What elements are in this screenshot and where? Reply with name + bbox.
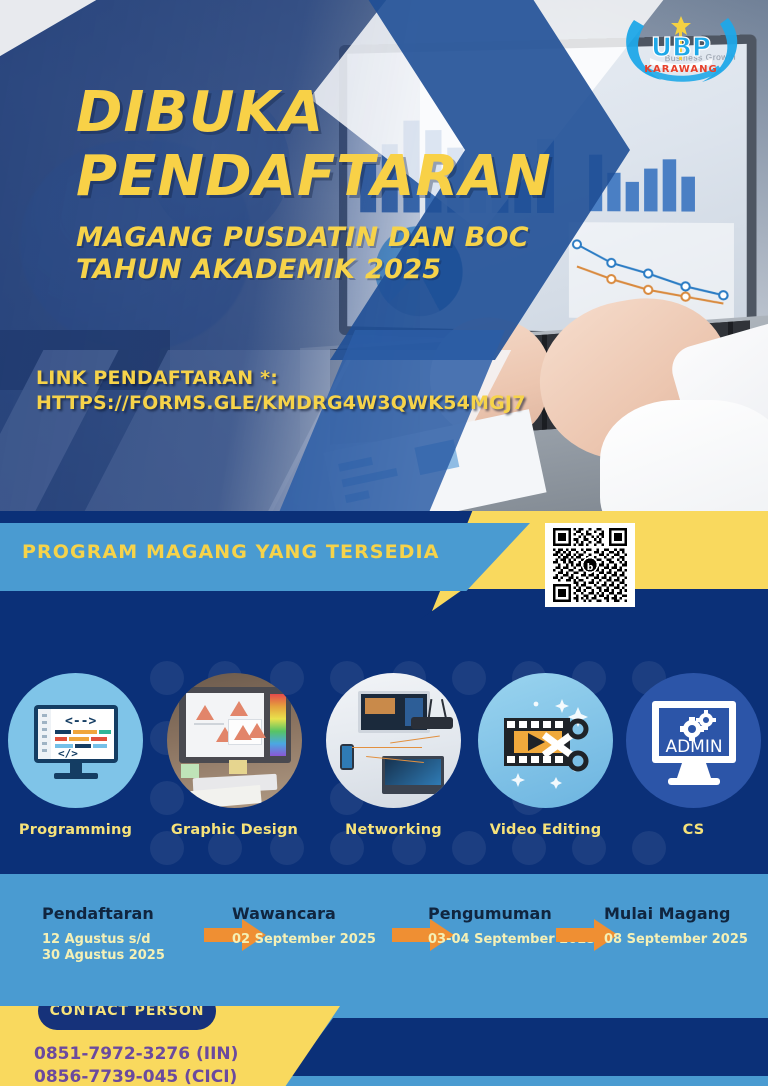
program-item[interactable]: <--> </> Programm <box>8 673 143 838</box>
timeline-date: 12 Agustus s/d 30 Agustus 2025 <box>42 932 165 965</box>
timeline-title: Mulai Magang <box>604 904 748 923</box>
svg-text:<-->: <--> <box>65 714 96 729</box>
program-item[interactable]: Networking <box>326 673 461 838</box>
code-monitor-icon: <--> </> <box>8 673 143 808</box>
program-item[interactable]: ADMIN CS <box>626 673 761 838</box>
link-label: LINK PENDAFTARAN *: <box>36 366 526 391</box>
program-item[interactable]: Video Editing <box>478 673 613 838</box>
registration-link-url[interactable]: HTTPS://FORMS.GLE/KMDRG4W3QWK54MGJ7 <box>36 391 526 416</box>
logo-text: UBP <box>651 33 711 63</box>
headline-line-2: PENDAFTARAN <box>76 150 696 204</box>
program-item[interactable]: Graphic Design <box>167 673 302 838</box>
timeline-section: Pendaftaran 12 Agustus s/d 30 Agustus 20… <box>0 874 768 1006</box>
subtitle-line-2: TAHUN AKADEMIK 2025 <box>76 254 696 287</box>
timeline-title: Pendaftaran <box>42 904 165 923</box>
timeline-step: Pendaftaran 12 Agustus s/d 30 Agustus 20… <box>42 904 165 965</box>
programs-section: <--> </> Programm <box>0 621 768 874</box>
admin-monitor-icon: ADMIN <box>626 673 761 808</box>
timeline-step: Mulai Magang 08 September 2025 <box>604 904 748 948</box>
program-label: Graphic Design <box>167 822 302 838</box>
logo-subtext: KARAWANG <box>644 64 717 75</box>
footer-section: CONTACT PERSON 0851-7972-3276 (IIN) 0856… <box>0 1006 768 1086</box>
program-banner: PROGRAM MAGANG YANG TERSEDIA <box>0 511 768 621</box>
contact-person-label: CONTACT PERSON <box>50 1006 205 1019</box>
timeline-date: 08 September 2025 <box>604 932 748 948</box>
timeline-date: 02 September 2025 <box>232 932 376 948</box>
contact-person-badge: CONTACT PERSON <box>38 1006 216 1030</box>
timeline-step: Wawancara 02 September 2025 <box>232 904 376 948</box>
phone-number-2[interactable]: 0856-7739-045 (CICI) <box>34 1066 238 1086</box>
networking-photo <box>326 673 461 808</box>
program-label: Networking <box>326 822 461 838</box>
svg-text:ADMIN: ADMIN <box>665 737 722 757</box>
timeline-title: Wawancara <box>232 904 376 923</box>
film-scissors-icon <box>478 673 613 808</box>
poster-root: Business Growth <box>0 0 768 1086</box>
contact-numbers: 0851-7972-3276 (IIN) 0856-7739-045 (CICI… <box>34 1043 238 1086</box>
hero-section: Business Growth <box>0 0 768 511</box>
program-label: Programming <box>8 822 143 838</box>
phone-number-1[interactable]: 0851-7972-3276 (IIN) <box>34 1043 238 1066</box>
subtitle-line-1: MAGANG PUSDATIN DAN BOC <box>76 222 696 255</box>
svg-text:b: b <box>587 562 594 573</box>
banner-label: PROGRAM MAGANG YANG TERSEDIA <box>22 541 440 563</box>
qr-code[interactable]: b <box>545 523 635 607</box>
program-label: CS <box>626 822 761 838</box>
hero-headline-block: DIBUKA PENDAFTARAN MAGANG PUSDATIN DAN B… <box>76 86 696 287</box>
ubp-karawang-logo: UBP KARAWANG <box>616 6 746 84</box>
registration-link-block: LINK PENDAFTARAN *: HTTPS://FORMS.GLE/KM… <box>36 366 526 415</box>
headline-line-1: DIBUKA <box>76 86 696 140</box>
graphic-design-photo <box>167 673 302 808</box>
footer-navy-shape <box>290 1018 768 1076</box>
program-label: Video Editing <box>478 822 613 838</box>
svg-text:</>: </> <box>58 747 78 760</box>
